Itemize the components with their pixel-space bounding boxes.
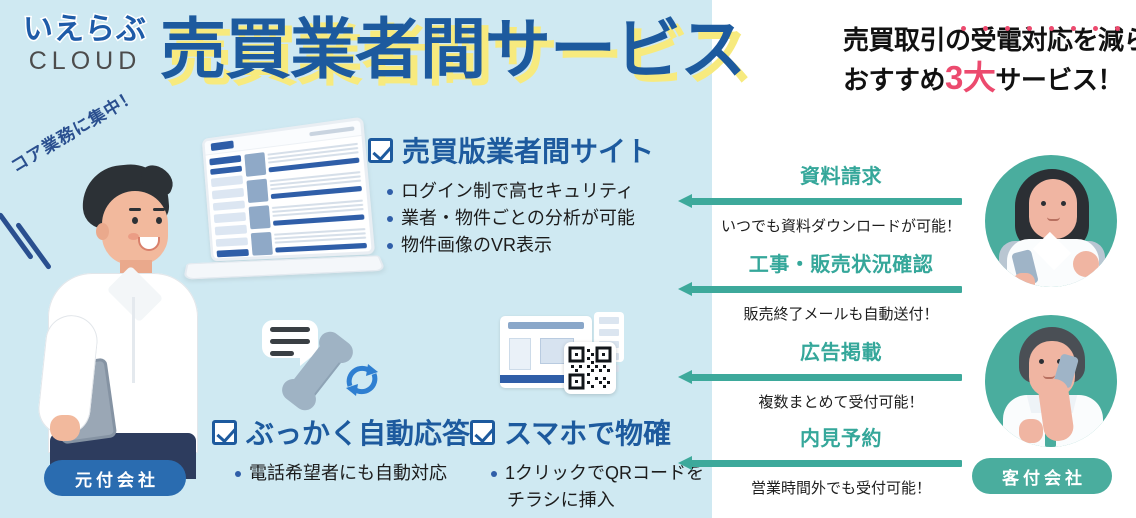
list-item: 物件画像のVR表示 [386,232,654,259]
feature-title: スマホで物確 [504,412,671,452]
arrow-label: 広告掲載 [678,336,968,365]
left-arrow-icon [678,282,968,296]
tagline-line-2: おすすめ3大サービス！ [843,57,1133,99]
avatar-woman-with-phone [985,155,1117,287]
tagline-prefix: おすすめ [843,65,945,95]
arrow-row-document-request: 資料請求 いつでも資料ダウンロードが可能！ [678,160,968,236]
feature-block-site: 売買版業者間サイト ログイン制で高セキュリティ 業者・物件ごとの分析が可能 物件… [368,130,654,259]
illustration-laptop-site [196,128,376,293]
badge-originating-company: 元付会社 [44,460,186,496]
list-item: ログイン制で高セキュリティ [386,178,654,205]
qr-code-icon [564,342,616,394]
feature-bullet-list: 1クリックでQRコードを チラシに挿入 [490,460,704,514]
tagline-accent: 3大 [945,59,995,96]
left-arrow-icon [678,456,968,470]
arrow-label: 資料請求 [678,160,968,189]
arrow-label: 内見予約 [678,422,968,451]
arrow-caption: いつでも資料ダウンロードが可能！ [678,215,968,236]
arrow-row-construction-sales-status: 工事・販売状況確認 販売終了メールも自動送付！ [678,248,968,324]
tagline-suffix: サービス！ [995,65,1123,95]
badge-client-company: 客付会社 [972,458,1112,494]
arrow-row-advertising: 広告掲載 複数まとめて受付可能！ [678,336,968,412]
left-arrow-icon [678,194,968,208]
list-item-line-1: 1クリックでQRコードを [505,463,704,483]
left-arrow-icon [678,370,968,384]
infographic-root: いえらぶ CLOUD 売買業者間サービス 売買取引の受電対応を減らす おすすめ3… [0,0,1136,518]
feature-bullet-list: ログイン制で高セキュリティ 業者・物件ごとの分析が可能 物件画像のVR表示 [386,178,654,259]
illustration-man-with-tablet [20,165,210,475]
refresh-arrows-icon [342,360,382,400]
avatar-man-on-call [985,315,1117,447]
qr-flyer-icon [500,310,625,405]
header-tagline: 売買取引の受電対応を減らす おすすめ3大サービス！ [843,24,1133,100]
logo-mark-text: いえらぶ [10,14,160,46]
arrow-caption: 複数まとめて受付可能！ [678,391,968,412]
arrow-row-viewing-reservation: 内見予約 営業時間外でも受付可能！ [678,422,968,498]
checkbox-icon [470,420,495,445]
feature-title: 売買版業者間サイト [402,130,654,170]
list-item-line-2: チラシに挿入 [505,487,704,514]
checkbox-icon [212,420,237,445]
arrow-label: 工事・販売状況確認 [678,248,968,277]
feature-bullet-list: 電話希望者にも自動対応 [234,460,470,487]
feature-block-qr: スマホで物確 1クリックでQRコードを チラシに挿入 [470,412,704,514]
emphasis-dots [961,18,1136,36]
arrow-caption: 販売終了メールも自動送付！ [678,303,968,324]
list-item: 1クリックでQRコードを チラシに挿入 [490,460,704,514]
list-item: 電話希望者にも自動対応 [234,460,470,487]
page-title: 売買業者間サービス [160,8,745,91]
list-item: 業者・物件ごとの分析が可能 [386,205,654,232]
checkbox-icon [368,138,393,163]
feature-block-auto-response: ぶっかく自動応答 電話希望者にも自動対応 [212,412,470,487]
phone-auto-response-icon [262,318,392,408]
arrow-caption: 営業時間外でも受付可能！ [678,477,968,498]
logo-sub-text: CLOUD [10,47,160,76]
speech-bubble-icon [262,320,318,358]
brand-logo: いえらぶ CLOUD [10,14,160,76]
feature-title: ぶっかく自動応答 [246,412,470,452]
